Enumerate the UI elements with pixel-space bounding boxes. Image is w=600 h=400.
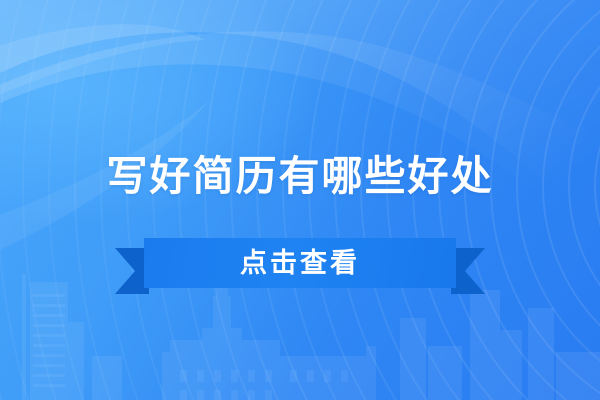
ripple-arc: [0, 0, 600, 400]
ripple-arc: [386, 0, 600, 400]
ripple-arc: [256, 0, 600, 400]
promo-banner: 写好简历有哪些好处 点击查看: [0, 0, 600, 400]
ripple-arc: [74, 0, 600, 400]
ripple-arc: [438, 0, 600, 400]
cta-label: 点击查看: [240, 250, 360, 277]
ripple-arc: [0, 0, 600, 400]
ripple-arc: [464, 0, 600, 400]
ripple-arc: [48, 0, 600, 400]
ripple-arc: [412, 0, 600, 400]
ripple-arc: [282, 0, 600, 400]
ripple-arc: [230, 0, 600, 400]
ripple-arc: [178, 0, 600, 400]
ripple-arc: [308, 0, 600, 400]
ripple-arc: [516, 0, 600, 400]
ripple-arc: [490, 0, 600, 400]
swoosh-curves-decoration: [0, 0, 600, 400]
ripple-arc: [22, 0, 600, 400]
ripple-arc: [360, 0, 600, 400]
ripple-arc: [334, 0, 600, 400]
ripple-arc: [100, 0, 600, 400]
cta-ribbon[interactable]: 点击查看: [115, 238, 485, 294]
ripple-arc: [152, 0, 600, 400]
ripple-arcs-decoration: [0, 0, 600, 400]
ripple-arc: [204, 0, 600, 400]
ripple-arc: [126, 0, 600, 400]
ribbon-tail-right: [451, 248, 485, 294]
banner-title: 写好简历有哪些好处: [0, 152, 600, 200]
ribbon-band[interactable]: 点击查看: [144, 238, 456, 288]
